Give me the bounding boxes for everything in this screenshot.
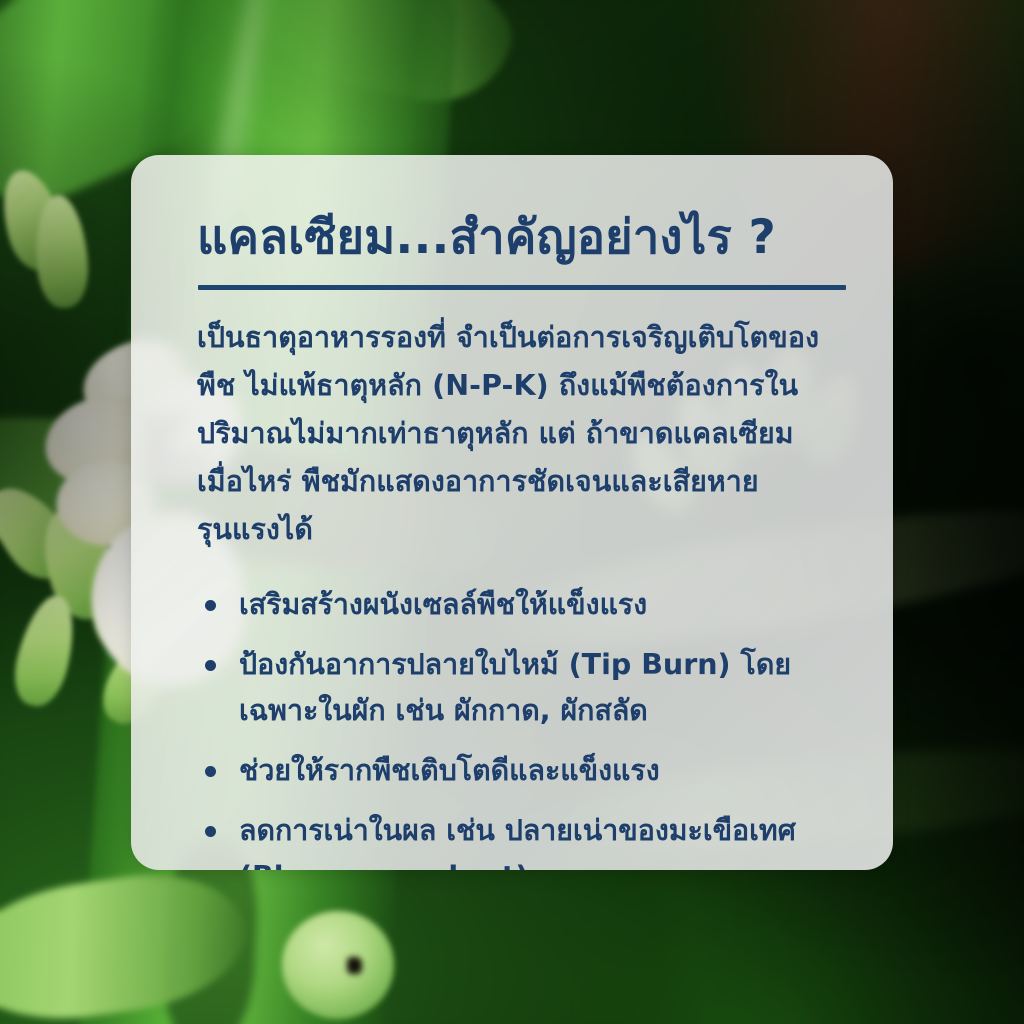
intro-paragraph: เป็นธาตุอาหารรองที่ จำเป็นต่อการเจริญเติ… xyxy=(197,314,837,554)
list-item: เสริมสร้างผนังเซลล์พืชให้แข็งแรง xyxy=(197,582,845,628)
list-item-label: เสริมสร้างผนังเซลล์พืชให้แข็งแรง xyxy=(239,588,647,621)
page-title: แคลเซียม...สำคัญอย่างไร ? xyxy=(197,213,845,263)
infographic-canvas: แคลเซียม...สำคัญอย่างไร ? เป็นธาตุอาหารร… xyxy=(0,0,1024,1024)
title-divider xyxy=(198,285,846,290)
bullet-dot-icon xyxy=(205,600,216,611)
list-item-label: ช่วยให้รากพืชเติบโตดีและแข็งแรง xyxy=(239,754,660,787)
list-item: ลดการเน่าในผล เช่น ปลายเน่าของมะเขือเทศ … xyxy=(197,808,845,870)
list-item-label: ป้องกันอาการปลายใบไหม้ (Tip Burn) โดยเฉพ… xyxy=(239,648,791,727)
list-item-label: ลดการเน่าในผล เช่น ปลายเน่าของมะเขือเทศ … xyxy=(239,814,796,870)
bullet-dot-icon xyxy=(205,660,216,671)
list-item: ป้องกันอาการปลายใบไหม้ (Tip Burn) โดยเฉพ… xyxy=(197,642,845,734)
bullet-dot-icon xyxy=(205,826,216,837)
benefits-list: เสริมสร้างผนังเซลล์พืชให้แข็งแรง ป้องกัน… xyxy=(197,582,845,870)
content-card-inner: แคลเซียม...สำคัญอย่างไร ? เป็นธาตุอาหารร… xyxy=(131,155,893,870)
list-item: ช่วยให้รากพืชเติบโตดีและแข็งแรง xyxy=(197,748,845,794)
content-card: แคลเซียม...สำคัญอย่างไร ? เป็นธาตุอาหารร… xyxy=(131,155,893,870)
bullet-dot-icon xyxy=(205,766,216,777)
